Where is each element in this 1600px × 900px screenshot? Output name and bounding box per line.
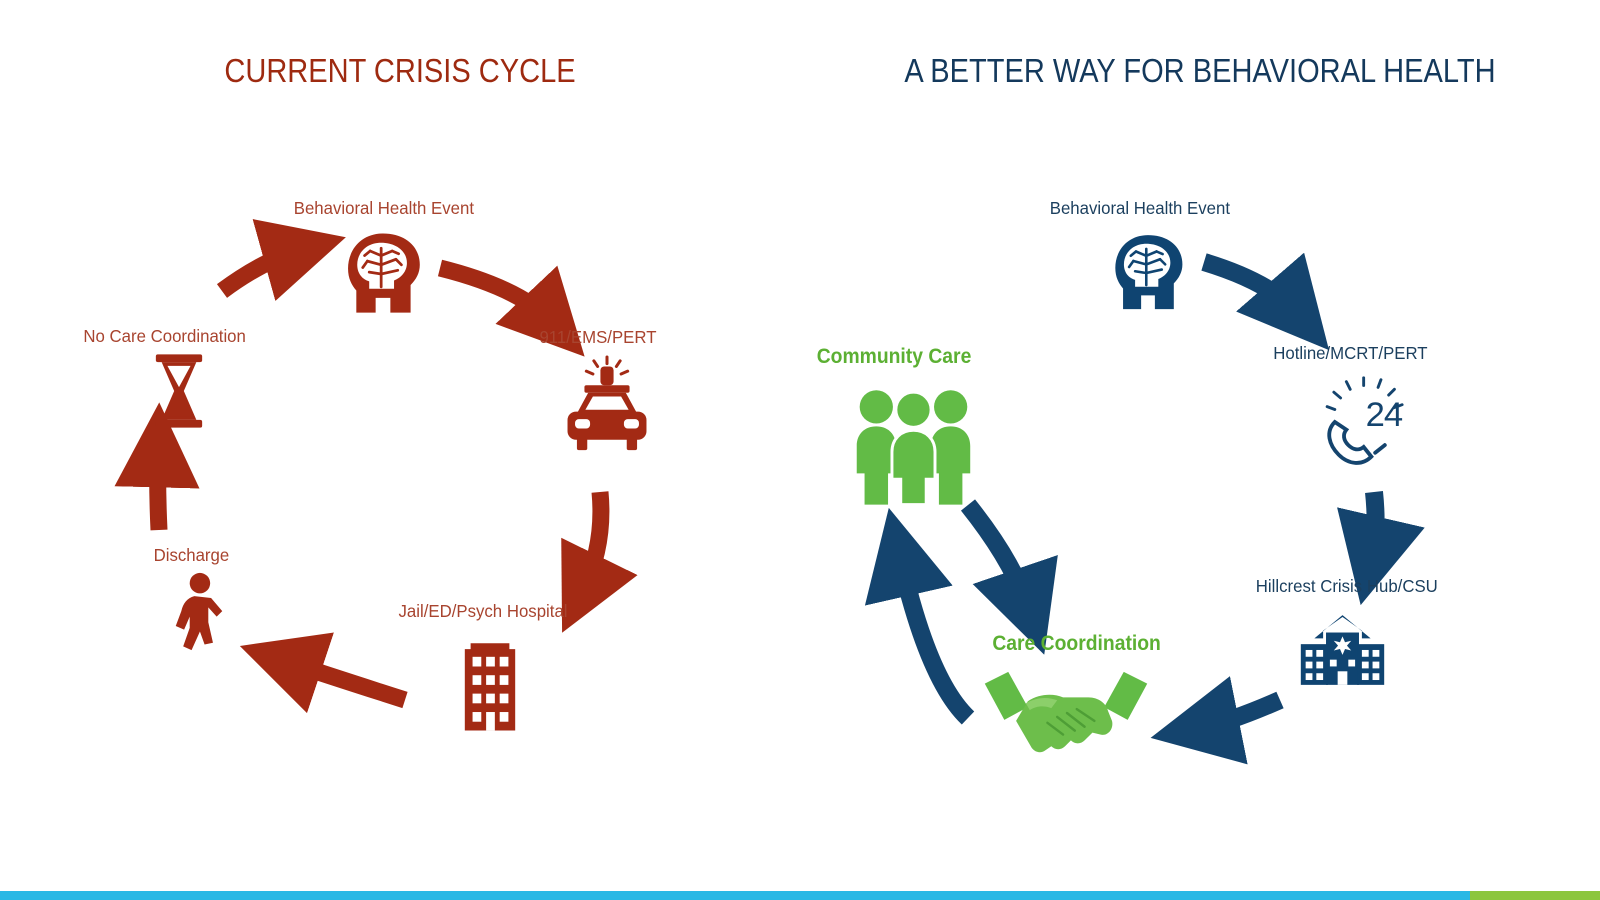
walking-person-icon (166, 572, 232, 652)
building-icon (459, 633, 521, 731)
footer-bar-cyan (0, 891, 1470, 900)
label-behavioral-health-event-better: Behavioral Health Event (1050, 198, 1230, 219)
arrow-discharge-to-nocare (158, 450, 159, 530)
page-title-a-better-way: A BETTER WAY FOR BEHAVIORAL HEALTH (848, 52, 1552, 90)
slide-canvas: CURRENT CRISIS CYCLE Behavioral Health E… (0, 0, 1600, 900)
label-hotline-mcrt-pert: Hotline/MCRT/PERT (1273, 343, 1427, 364)
crisis-cycle-arrows (0, 0, 800, 870)
panel-current-crisis-cycle: CURRENT CRISIS CYCLE Behavioral Health E… (0, 0, 800, 870)
arrow-hospital-to-discharge (285, 661, 405, 700)
label-discharge: Discharge (154, 545, 230, 566)
head-brain-icon (1105, 230, 1191, 316)
label-hillcrest-crisis-hub: Hillcrest Crisis Hub/CSU (1256, 576, 1438, 597)
three-people-icon (845, 383, 980, 505)
hospital-icon (1295, 613, 1390, 685)
label-care-coordination: Care Coordination (992, 632, 1161, 656)
label-community-care: Community Care (817, 345, 972, 369)
hourglass-icon (152, 352, 206, 430)
head-brain-icon (337, 228, 429, 320)
arrow-911-to-hospital (583, 492, 601, 590)
arrow-hotline-to-hub (1372, 492, 1376, 556)
label-911-ems-pert: 911/EMS/PERT (539, 327, 656, 348)
footer-bar-green (1470, 891, 1600, 900)
handshake-icon (982, 668, 1150, 760)
panel-a-better-way: A BETTER WAY FOR BEHAVIORAL HEALTH Behav… (800, 0, 1600, 870)
police-car-icon (560, 355, 654, 455)
arrow-nocare-to-event (222, 250, 300, 291)
page-title-current-crisis-cycle: CURRENT CRISIS CYCLE (48, 52, 752, 90)
svg-text:24: 24 (1366, 396, 1403, 434)
footer-accent-bar (0, 870, 1600, 900)
arrow-event-to-hotline (1204, 262, 1296, 312)
arrow-community-to-care-coordination (968, 505, 1028, 607)
arrow-care-coordination-to-community (900, 557, 968, 718)
label-jail-ed-psych-hospital: Jail/ED/Psych Hospital (399, 601, 568, 622)
arrow-event-to-911 (440, 268, 552, 322)
arrow-hub-to-care-coordination (1200, 700, 1280, 728)
label-no-care-coordination: No Care Coordination (83, 326, 245, 347)
label-behavioral-health-event: Behavioral Health Event (294, 198, 474, 219)
phone-24-hour-icon: 24 (1300, 372, 1410, 472)
